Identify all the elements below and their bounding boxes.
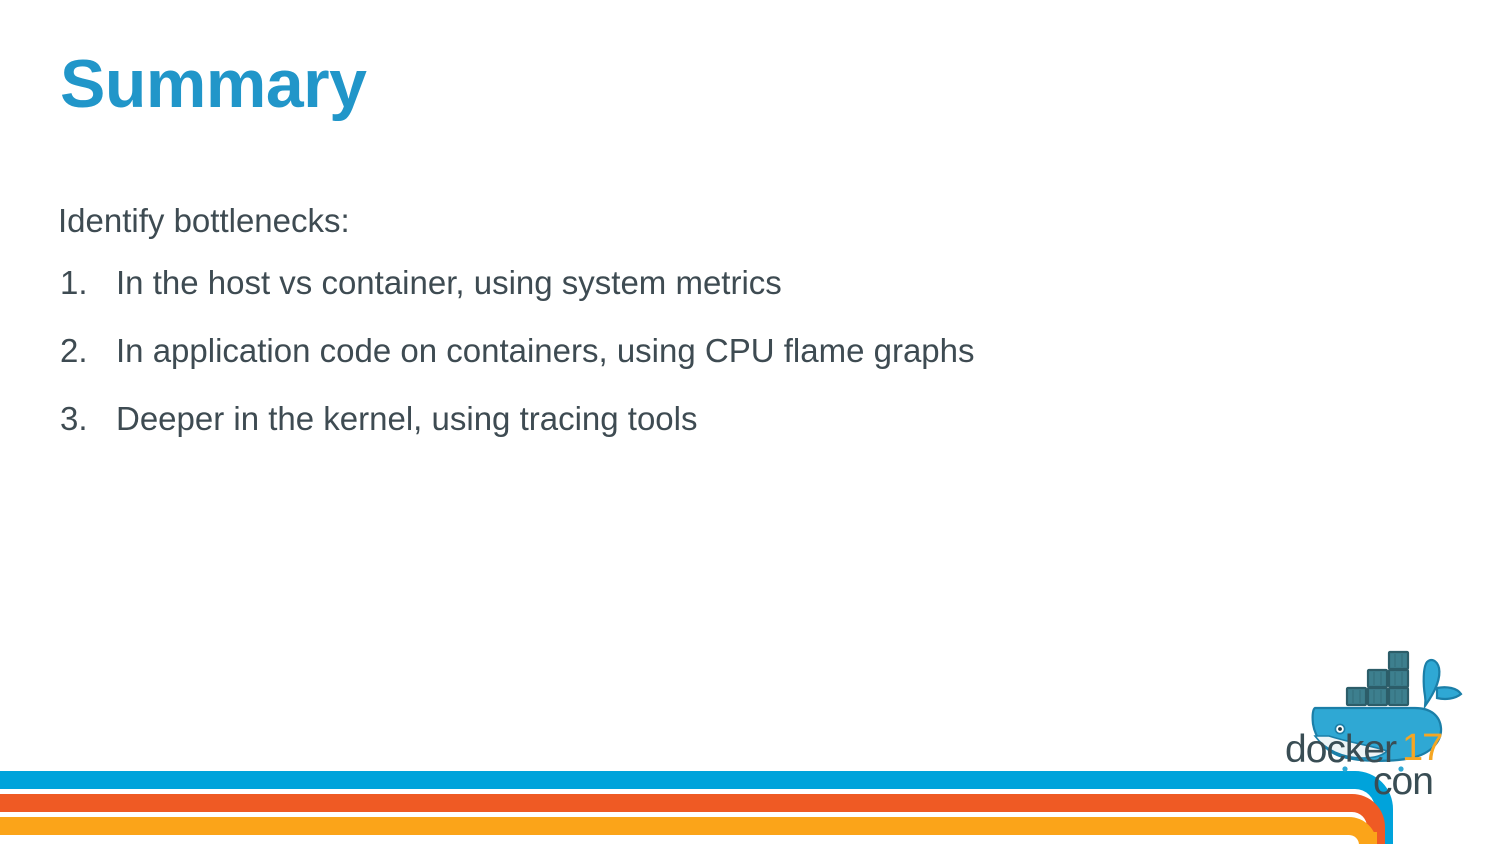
- stripe-yellow: [0, 817, 1377, 844]
- list-item-number: 2.: [60, 330, 88, 373]
- slide-body: Identify bottlenecks: 1. In the host vs …: [58, 200, 1238, 466]
- list-item: 2. In application code on containers, us…: [58, 330, 1238, 373]
- intro-text: Identify bottlenecks:: [58, 200, 1238, 242]
- stripe-orange: [0, 794, 1385, 844]
- bottleneck-list: 1. In the host vs container, using syste…: [58, 262, 1238, 441]
- slide-canvas: Summary Identify bottlenecks: 1. In the …: [0, 0, 1500, 844]
- list-item: 1. In the host vs container, using syste…: [58, 262, 1238, 305]
- list-item-label: In application code on containers, using…: [116, 332, 975, 369]
- stripe-blue: [0, 771, 1393, 844]
- bottom-stripe-decoration: [0, 754, 1500, 844]
- list-item-number: 1.: [60, 262, 88, 305]
- list-item-number: 3.: [60, 398, 88, 441]
- list-item-label: In the host vs container, using system m…: [116, 264, 782, 301]
- page-title: Summary: [60, 48, 366, 121]
- stripe-yellow-tail: [1359, 832, 1377, 844]
- list-item: 3. Deeper in the kernel, using tracing t…: [58, 398, 1238, 441]
- list-item-label: Deeper in the kernel, using tracing tool…: [116, 400, 698, 437]
- dockercon-logo: docker 17 con: [1285, 636, 1485, 796]
- logo-wordmark-con: con: [1373, 760, 1433, 796]
